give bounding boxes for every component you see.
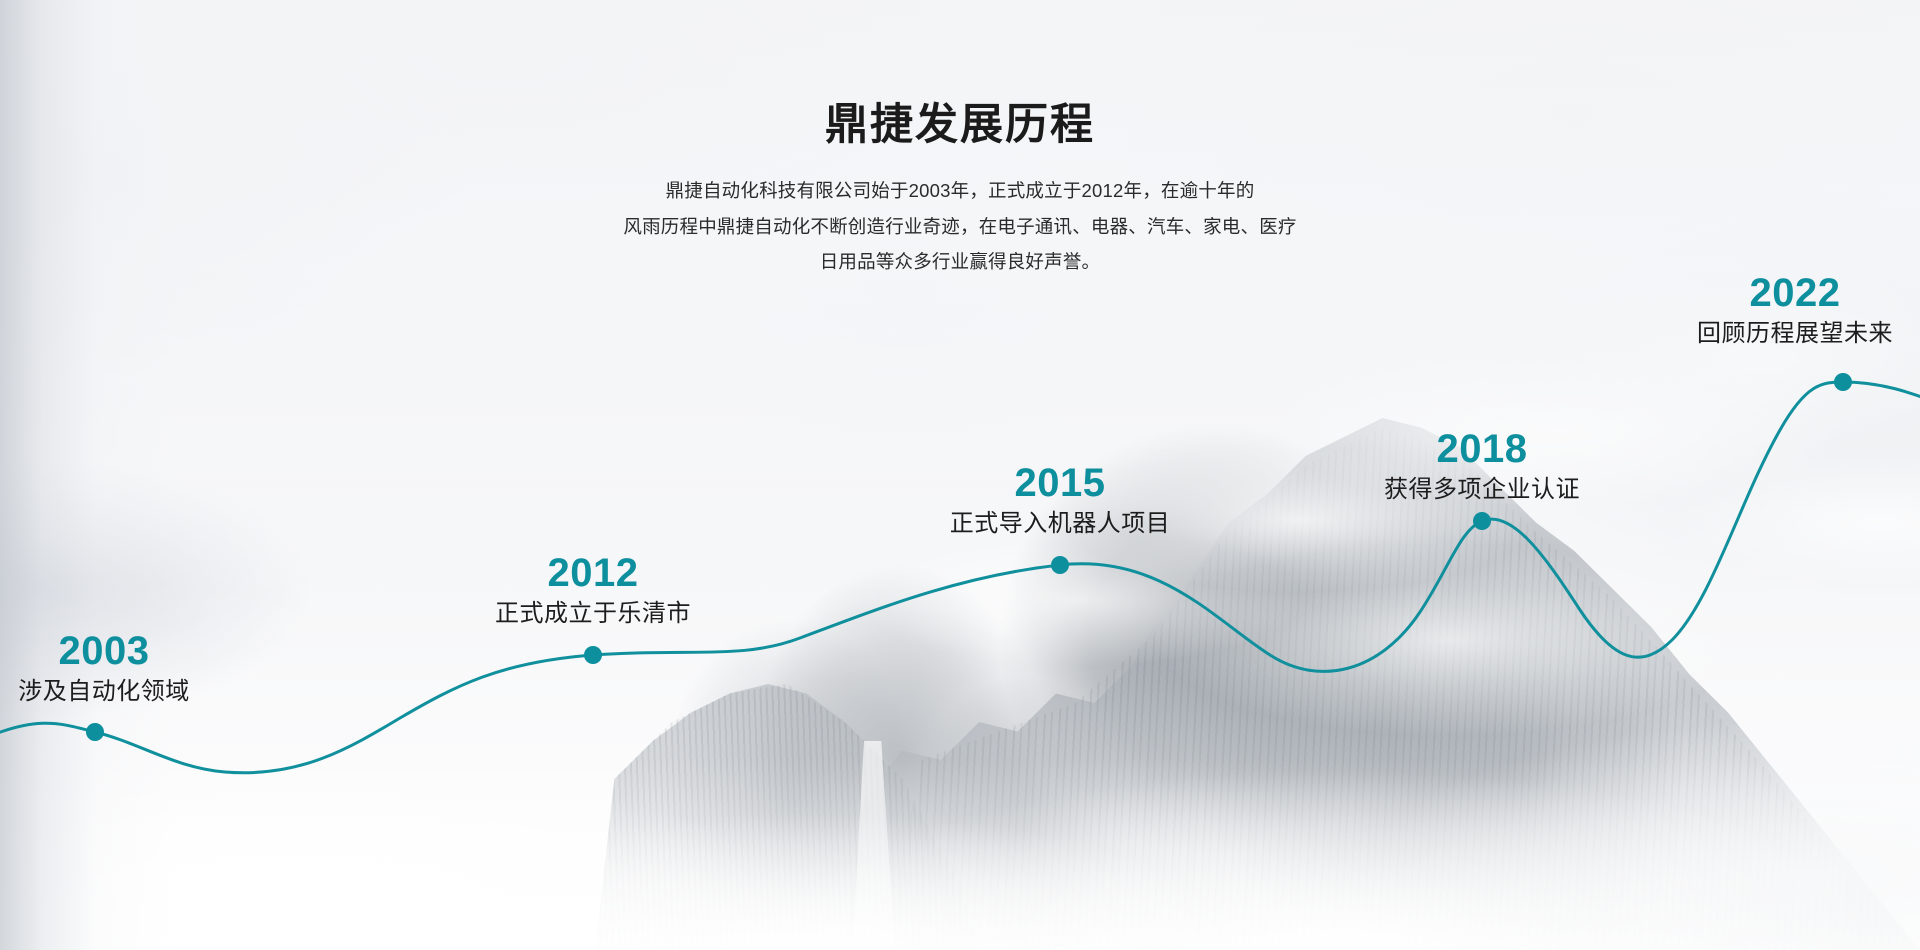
- subtitle-line-2: 风雨历程中鼎捷自动化不断创造行业奇迹，在电子通讯、电器、汽车、家电、医疗: [0, 209, 1920, 245]
- timeline-dot-2012[interactable]: [584, 646, 602, 664]
- subtitle-line-3: 日用品等众多行业赢得良好声誉。: [0, 244, 1920, 280]
- milestone-2012[interactable]: 2012正式成立于乐清市: [495, 552, 691, 629]
- timeline-curve-path: [0, 382, 1920, 773]
- milestone-year-2015: 2015: [950, 462, 1171, 504]
- header: 鼎捷发展历程 鼎捷自动化科技有限公司始于2003年，正式成立于2012年，在逾十…: [0, 0, 1920, 280]
- milestone-2018[interactable]: 2018获得多项企业认证: [1384, 428, 1580, 505]
- milestone-year-2018: 2018: [1384, 428, 1580, 470]
- milestone-year-2012: 2012: [495, 552, 691, 594]
- timeline-dot-2018[interactable]: [1473, 512, 1491, 530]
- milestone-year-2003: 2003: [18, 630, 190, 672]
- subtitle-line-1: 鼎捷自动化科技有限公司始于2003年，正式成立于2012年，在逾十年的: [0, 173, 1920, 209]
- milestone-label-2003: 涉及自动化领域: [18, 678, 190, 707]
- milestone-label-2012: 正式成立于乐清市: [495, 600, 691, 629]
- milestone-label-2015: 正式导入机器人项目: [950, 510, 1171, 539]
- page-title: 鼎捷发展历程: [0, 0, 1920, 147]
- milestone-label-2018: 获得多项企业认证: [1384, 476, 1580, 505]
- timeline-dot-2003[interactable]: [86, 723, 104, 741]
- timeline-dot-group: [86, 373, 1852, 741]
- timeline-dot-2022[interactable]: [1834, 373, 1852, 391]
- timeline-infographic: 鼎捷发展历程 鼎捷自动化科技有限公司始于2003年，正式成立于2012年，在逾十…: [0, 0, 1920, 950]
- timeline-dot-2015[interactable]: [1051, 556, 1069, 574]
- milestone-2022[interactable]: 2022回顾历程展望未来: [1697, 272, 1893, 349]
- milestone-2015[interactable]: 2015正式导入机器人项目: [950, 462, 1171, 539]
- page-subtitle: 鼎捷自动化科技有限公司始于2003年，正式成立于2012年，在逾十年的 风雨历程…: [0, 147, 1920, 280]
- milestone-2003[interactable]: 2003涉及自动化领域: [18, 630, 190, 707]
- milestone-label-2022: 回顾历程展望未来: [1697, 320, 1893, 349]
